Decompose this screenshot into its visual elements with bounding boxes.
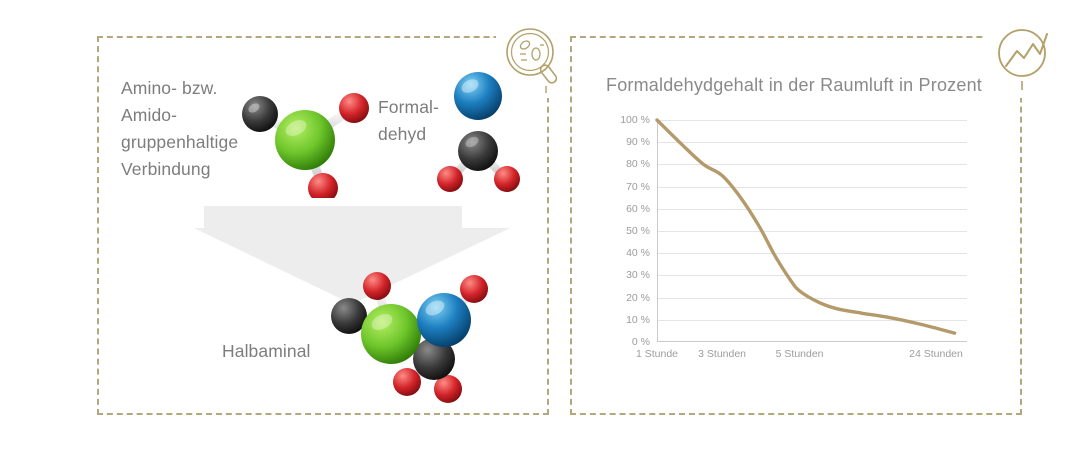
molecule-amino-compound <box>238 82 372 198</box>
x-axis-tick-label: 5 Stunden <box>776 348 824 360</box>
y-axis-tick-label: 20 % <box>626 292 650 304</box>
molecule-halbaminal <box>322 272 506 406</box>
y-axis-tick-label: 60 % <box>626 203 650 215</box>
y-axis-tick-label: 30 % <box>626 269 650 281</box>
molecule-formaldehyde <box>432 66 524 192</box>
y-axis-tick-label: 10 % <box>626 314 650 326</box>
trend-chart-icon <box>986 20 1064 98</box>
y-axis-tick-label: 80 % <box>626 158 650 170</box>
plot-area <box>657 120 967 342</box>
line-chart: 100 %90 %80 %70 %60 %50 %40 %30 %20 %10 … <box>600 120 1000 385</box>
y-axis-tick-label: 90 % <box>626 136 650 148</box>
series-line <box>657 120 967 342</box>
x-axis-tick-label: 24 Stunden <box>909 348 963 360</box>
x-axis-ticks: 1 Stunde3 Stunden5 Stunden24 Stunden <box>657 348 967 368</box>
y-axis-tick-label: 50 % <box>626 225 650 237</box>
y-axis-tick-label: 70 % <box>626 181 650 193</box>
chart-title: Formaldehydgehalt in der Raumluft in Pro… <box>606 75 982 96</box>
y-axis-ticks: 100 %90 %80 %70 %60 %50 %40 %30 %20 %10 … <box>600 120 650 342</box>
series-path <box>657 120 955 333</box>
y-axis-tick-label: 40 % <box>626 247 650 259</box>
diagram-canvas: Amino- bzw. Amido- gruppenhaltige Verbin… <box>0 0 1080 462</box>
y-axis-tick-label: 100 % <box>620 114 650 126</box>
x-axis-tick-label: 3 Stunden <box>698 348 746 360</box>
y-axis-tick-label: 0 % <box>632 336 650 348</box>
x-axis-tick-label: 1 Stunde <box>636 348 678 360</box>
